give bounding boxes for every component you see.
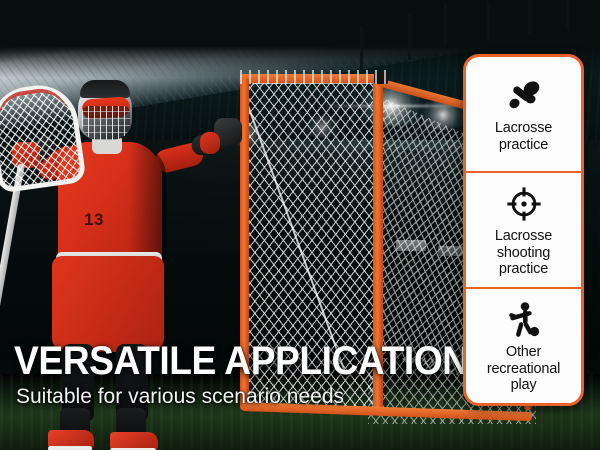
player-right-cuff bbox=[200, 132, 220, 154]
roof-post bbox=[408, 14, 411, 60]
lacrosse-stick-icon bbox=[504, 74, 544, 118]
feature-item-recreational-play[interactable]: Other recreational play bbox=[466, 287, 581, 403]
feature-item-shooting-practice[interactable]: Lacrosse shooting practice bbox=[466, 171, 581, 287]
feature-label-line3: practice bbox=[495, 261, 552, 278]
feature-label: Other recreational play bbox=[487, 344, 560, 394]
page-subtitle: Suitable for various scenario needs bbox=[16, 386, 344, 407]
feature-label: Lacrosse shooting practice bbox=[495, 228, 552, 278]
player-kicking-ball-icon bbox=[504, 298, 544, 342]
helmet-face-cage bbox=[82, 106, 130, 140]
player-shorts bbox=[52, 256, 164, 352]
helmet-top-shell bbox=[80, 80, 130, 98]
player-jersey-shadow bbox=[128, 144, 166, 264]
feature-label: Lacrosse practice bbox=[495, 120, 552, 154]
roof-post bbox=[444, 4, 447, 46]
feature-label-line2: practice bbox=[495, 137, 552, 154]
feature-label-line1: Lacrosse bbox=[495, 228, 552, 245]
page-title: VERSATILE APPLICATION bbox=[14, 341, 469, 381]
roof-post bbox=[487, 2, 490, 40]
feature-label-line1: Lacrosse bbox=[495, 120, 552, 137]
promo-banner: 13 VERSATILE APPLICATION Suitable for va… bbox=[0, 0, 600, 450]
roof-post bbox=[566, 0, 569, 30]
feature-label-line2: shooting bbox=[495, 245, 552, 262]
feature-item-lacrosse-practice[interactable]: Lacrosse practice bbox=[466, 57, 581, 171]
target-crosshair-icon bbox=[505, 182, 543, 226]
jersey-number: 13 bbox=[84, 210, 104, 230]
feature-panel: Lacrosse practice bbox=[463, 54, 584, 406]
roof-post bbox=[528, 0, 531, 34]
feature-label-line3: play bbox=[487, 377, 560, 394]
feature-label-line1: Other bbox=[487, 344, 560, 361]
left-shoe-sole bbox=[48, 446, 92, 450]
goal-net-lacing bbox=[240, 70, 390, 84]
feature-label-line2: recreational bbox=[487, 361, 560, 378]
